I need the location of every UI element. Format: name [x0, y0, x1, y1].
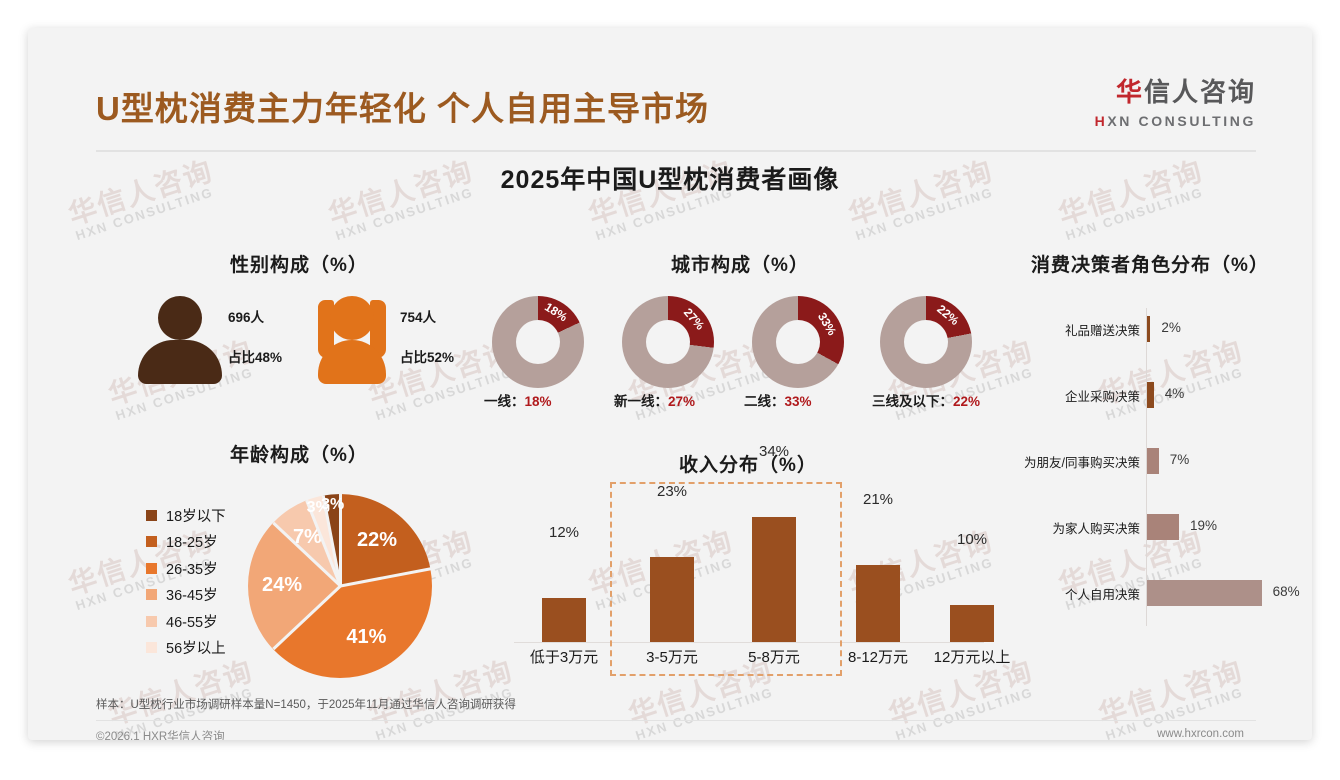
role-row: 个人自用决策68% [1008, 580, 1308, 606]
legend-swatch [146, 536, 157, 547]
city-caption-value: 27% [668, 394, 695, 409]
legend-swatch [146, 616, 157, 627]
legend-label: 46-55岁 [166, 611, 218, 632]
city-donut-一线: 18% [492, 296, 584, 388]
pie-value-label: 24% [262, 574, 302, 597]
copyright-text: ©2026.1 HXR华信人咨询 [96, 728, 225, 740]
gender-title: 性别构成（%） [124, 250, 474, 277]
role-label: 个人自用决策 [1065, 584, 1140, 603]
header-divider [96, 150, 1256, 152]
role-value: 7% [1170, 452, 1190, 467]
city-donut-二线: 33% [752, 296, 844, 388]
pie-value-label: 22% [357, 529, 397, 552]
slide-canvas: 华信人咨询HXN CONSULTING华信人咨询HXN CONSULTING华信… [28, 28, 1312, 740]
legend-label: 36-45岁 [166, 584, 218, 605]
logo-en-rest: XN CONSULTING [1107, 113, 1256, 129]
role-row: 礼品赠送决策2% [1008, 316, 1308, 342]
income-value-label: 10% [927, 531, 1017, 548]
income-category-label: 8-12万元 [828, 646, 928, 667]
city-donut-三线及以下: 22% [880, 296, 972, 388]
role-bar [1147, 580, 1262, 606]
role-bar [1147, 448, 1159, 474]
income-highlight-box [610, 482, 842, 676]
role-label: 为朋友/同事购买决策 [1024, 452, 1140, 471]
legend-swatch [146, 510, 157, 521]
legend-swatch [146, 563, 157, 574]
brand-logo: 华信人咨询 HXN CONSULTING [1095, 72, 1256, 129]
pie-value-label: 3% [313, 496, 353, 514]
age-legend-item: 36-45岁 [146, 582, 226, 609]
gender-share: 占比52% [400, 346, 454, 366]
age-legend-item: 18-25岁 [146, 529, 226, 556]
city-caption: 三线及以下：22% [872, 390, 980, 410]
role-bar [1147, 514, 1179, 540]
donut-hole [646, 320, 690, 364]
donut-hole [904, 320, 948, 364]
income-value-label: 12% [519, 524, 609, 541]
income-category-label: 低于3万元 [514, 646, 614, 667]
role-value: 4% [1165, 386, 1185, 401]
income-category-label: 12万元以上 [922, 646, 1022, 667]
role-label: 礼品赠送决策 [1065, 320, 1140, 339]
role-value: 68% [1273, 584, 1300, 599]
city-caption-value: 18% [525, 394, 552, 409]
male-avatar-icon [138, 296, 222, 384]
city-donut-新一线: 27% [622, 296, 714, 388]
logo-english: HXN CONSULTING [1095, 113, 1256, 129]
slide-header: U型枕消费主力年轻化 个人自用主导市场 华信人咨询 HXN CONSULTING [96, 58, 1256, 150]
role-bar [1147, 382, 1154, 408]
logo-cn-rest: 信人咨询 [1144, 77, 1256, 107]
female-avatar-icon [310, 296, 394, 384]
income-value-label: 34% [729, 443, 819, 460]
city-caption: 二线：33% [744, 390, 812, 410]
logo-chinese: 华信人咨询 [1095, 72, 1256, 109]
logo-cn-accent: 华 [1116, 77, 1144, 107]
legend-label: 56岁以上 [166, 637, 226, 658]
city-panel: 城市构成（%） 18%一线：18%27%新一线：27%33%二线：33%22%三… [480, 250, 1000, 415]
age-title: 年龄构成（%） [124, 440, 474, 467]
role-row: 为朋友/同事购买决策7% [1008, 448, 1308, 474]
roles-title: 消费决策者角色分布（%） [1000, 250, 1300, 277]
age-legend: 18岁以下18-25岁26-35岁36-45岁46-55岁56岁以上 [146, 502, 226, 661]
role-label: 为家人购买决策 [1052, 518, 1140, 537]
gender-count: 696人 [228, 306, 264, 326]
city-caption-name: 一线： [484, 394, 525, 409]
gender-count: 754人 [400, 306, 436, 326]
age-legend-item: 46-55岁 [146, 608, 226, 635]
city-caption: 新一线：27% [614, 390, 695, 410]
gender-panel: 性别构成（%） 696人占比48%754人占比52% [124, 250, 474, 390]
role-value: 19% [1190, 518, 1217, 533]
role-row: 企业采购决策4% [1008, 382, 1308, 408]
age-panel: 年龄构成（%） 18岁以下18-25岁26-35岁36-45岁46-55岁56岁… [124, 440, 474, 690]
city-caption-name: 新一线： [614, 394, 668, 409]
donut-value-label: 33% [815, 310, 839, 338]
income-bar [856, 565, 900, 642]
pie-value-label: 41% [346, 626, 386, 649]
donut-hole [516, 320, 560, 364]
income-panel: 收入分布（%） 12%低于3万元23%3-5万元34%5-8万元21%8-12万… [498, 450, 998, 690]
city-title: 城市构成（%） [480, 250, 1000, 277]
income-bar [950, 605, 994, 642]
income-bar [542, 598, 586, 642]
role-value: 2% [1161, 320, 1181, 335]
legend-swatch [146, 589, 157, 600]
website-url[interactable]: www.hxrcon.com [1157, 728, 1244, 740]
roles-panel: 消费决策者角色分布（%） 礼品赠送决策2%企业采购决策4%为朋友/同事购买决策7… [1008, 250, 1308, 630]
city-caption: 一线：18% [484, 390, 552, 410]
role-row: 为家人购买决策19% [1008, 514, 1308, 540]
gender-share: 占比48% [228, 346, 282, 366]
role-bar [1147, 316, 1150, 342]
chart-subtitle: 2025年中国U型枕消费者画像 [28, 160, 1312, 196]
logo-en-accent: H [1095, 113, 1108, 129]
city-caption-value: 22% [953, 394, 980, 409]
legend-label: 26-35岁 [166, 558, 218, 579]
legend-swatch [146, 642, 157, 653]
legend-label: 18-25岁 [166, 531, 218, 552]
sample-note: 样本：U型枕行业市场调研样本量N=1450，于2025年11月通过华信人咨询调研… [96, 696, 1256, 712]
footer-divider [96, 720, 1256, 721]
age-legend-item: 56岁以上 [146, 635, 226, 662]
legend-label: 18岁以下 [166, 505, 226, 526]
role-label: 企业采购决策 [1065, 386, 1140, 405]
age-legend-item: 18岁以下 [146, 502, 226, 529]
donut-hole [776, 320, 820, 364]
page-title: U型枕消费主力年轻化 个人自用主导市场 [96, 82, 709, 130]
city-caption-value: 33% [785, 394, 812, 409]
city-caption-name: 二线： [744, 394, 785, 409]
age-legend-item: 26-35岁 [146, 555, 226, 582]
city-caption-name: 三线及以下： [872, 394, 953, 409]
income-value-label: 21% [833, 491, 923, 508]
